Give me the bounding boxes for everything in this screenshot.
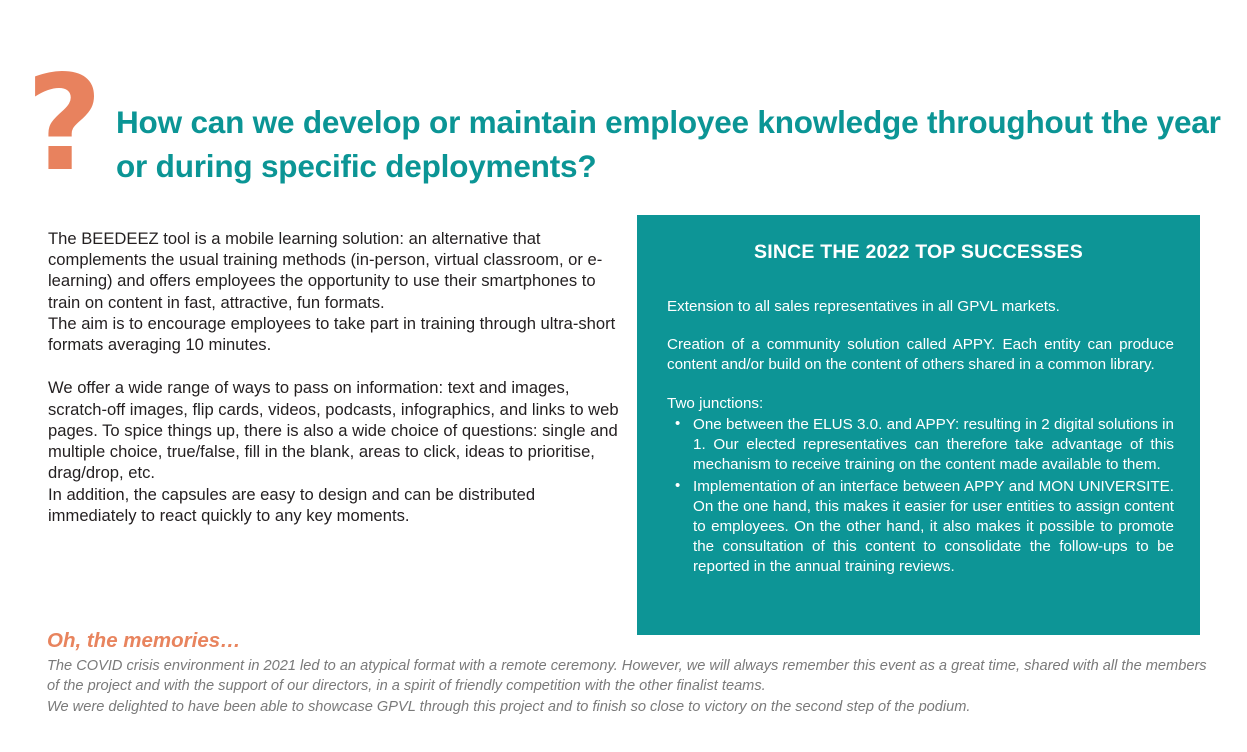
left-paragraph-2: The aim is to encourage employees to tak… [48, 313, 620, 355]
page-title: How can we develop or maintain employee … [116, 101, 1236, 188]
list-item-text: One between the ELUS 3.0. and APPY: resu… [693, 416, 1174, 473]
left-paragraph-1: The BEEDEEZ tool is a mobile learning so… [48, 228, 620, 313]
bullet-dot-icon: • [675, 414, 680, 434]
left-paragraph-3: We offer a wide range of ways to pass on… [48, 377, 620, 483]
bullet-dot-icon: • [675, 476, 680, 496]
panel-bullet-list: • One between the ELUS 3.0. and APPY: re… [667, 415, 1174, 578]
memories-footer-body: The COVID crisis environment in 2021 led… [47, 656, 1207, 718]
left-description-column: The BEEDEEZ tool is a mobile learning so… [48, 228, 620, 526]
memories-footer-line-1: The COVID crisis environment in 2021 led… [47, 656, 1207, 697]
memories-footer-title: Oh, the memories… [47, 628, 1207, 654]
successes-panel-title: SINCE THE 2022 TOP SUCCESSES [637, 241, 1200, 264]
memories-footer: Oh, the memories… The COVID crisis envir… [47, 628, 1207, 718]
question-mark-icon: ? [26, 58, 101, 190]
memories-footer-line-2: We were delighted to have been able to s… [47, 697, 1207, 718]
panel-paragraph-appy: Creation of a community solution called … [667, 335, 1174, 375]
list-item: • Implementation of an interface between… [667, 477, 1174, 578]
left-paragraph-4: In addition, the capsules are easy to de… [48, 484, 620, 526]
list-item: • One between the ELUS 3.0. and APPY: re… [667, 415, 1174, 476]
successes-panel: SINCE THE 2022 TOP SUCCESSES Extension t… [637, 215, 1200, 635]
page-header: ? How can we develop or maintain employe… [0, 62, 1247, 187]
list-item-text: Implementation of an interface between A… [693, 478, 1174, 576]
successes-panel-body: Extension to all sales representatives i… [667, 297, 1174, 578]
panel-paragraph-extension: Extension to all sales representatives i… [667, 297, 1174, 317]
panel-list-intro: Two junctions: [667, 394, 1174, 414]
